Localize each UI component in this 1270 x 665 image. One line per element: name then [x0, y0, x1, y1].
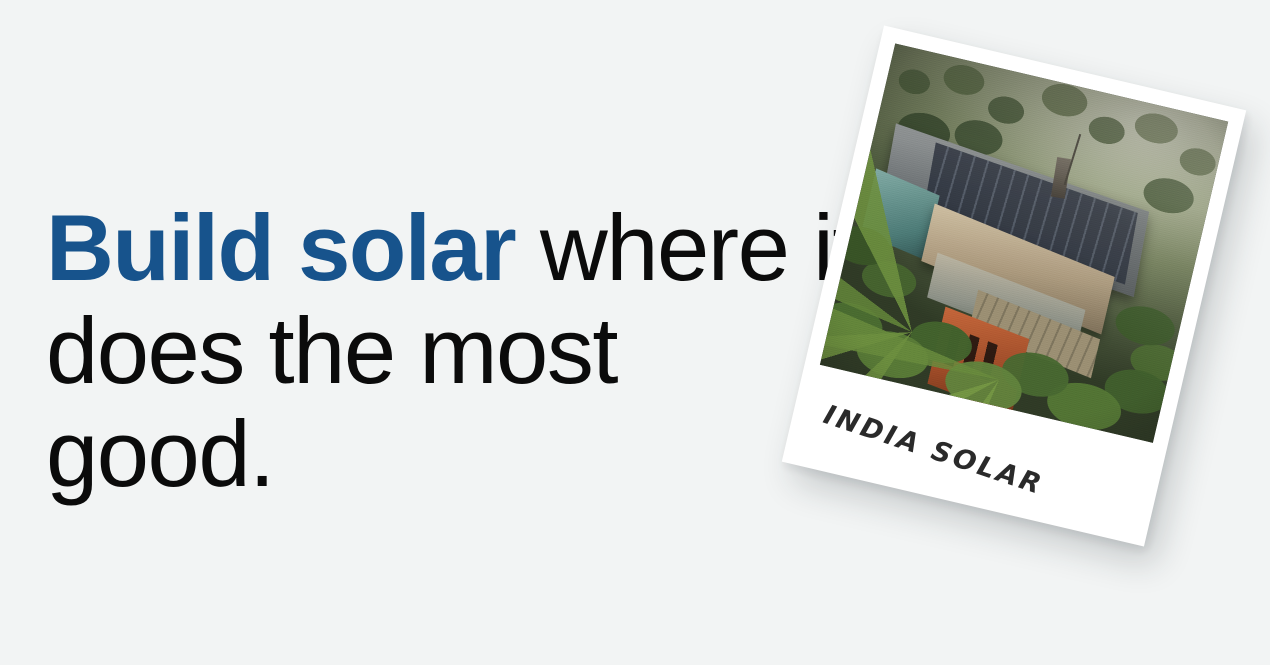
polaroid-card: INDIA SOLAR [782, 25, 1246, 546]
photo-grain-layer [820, 43, 1228, 442]
polaroid-photo [820, 43, 1228, 442]
page-title: Build solar where it does the most good. [46, 196, 866, 505]
headline-accent: Build solar [46, 195, 515, 300]
